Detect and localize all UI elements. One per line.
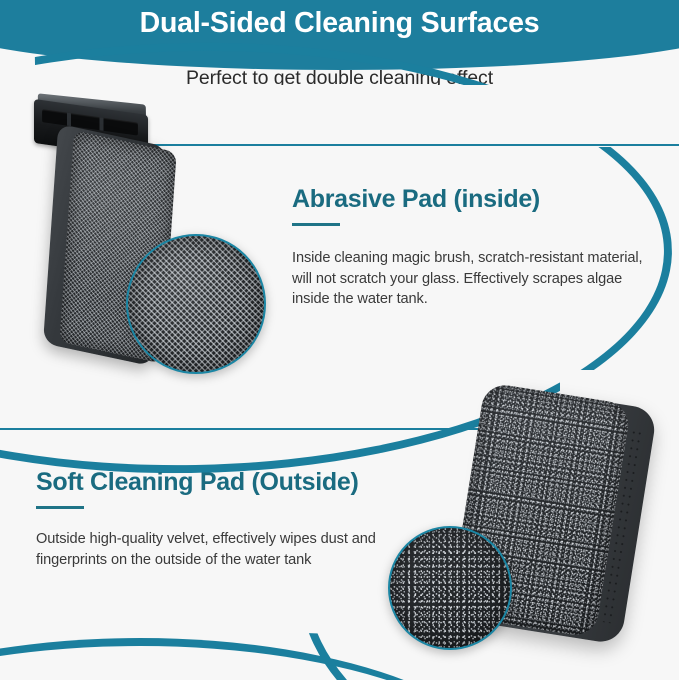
soft-pad-body-text: Outside high-quality velvet, effectively… (36, 529, 376, 570)
soft-pad-text-block: Soft Cleaning Pad (Outside) Outside high… (36, 468, 376, 570)
abrasive-heading: Abrasive Pad (inside) (292, 185, 652, 214)
soft-pad-heading-rule (36, 506, 84, 509)
section-soft-pad: Soft Cleaning Pad (Outside) Outside high… (0, 400, 679, 680)
abrasive-heading-rule (292, 223, 340, 226)
abrasive-texture-closeup (126, 234, 266, 374)
infographic-page: Dual-Sided Cleaning Surfaces Perfect to … (0, 0, 679, 680)
abrasive-body-text: Inside cleaning magic brush, scratch-res… (292, 248, 652, 310)
abrasive-text-block: Abrasive Pad (inside) Inside cleaning ma… (292, 185, 652, 310)
velvet-texture-closeup (388, 526, 512, 650)
soft-pad-heading: Soft Cleaning Pad (Outside) (36, 468, 376, 497)
section-abrasive: Abrasive Pad (inside) Inside cleaning ma… (0, 95, 679, 390)
page-title: Dual-Sided Cleaning Surfaces (0, 7, 679, 40)
